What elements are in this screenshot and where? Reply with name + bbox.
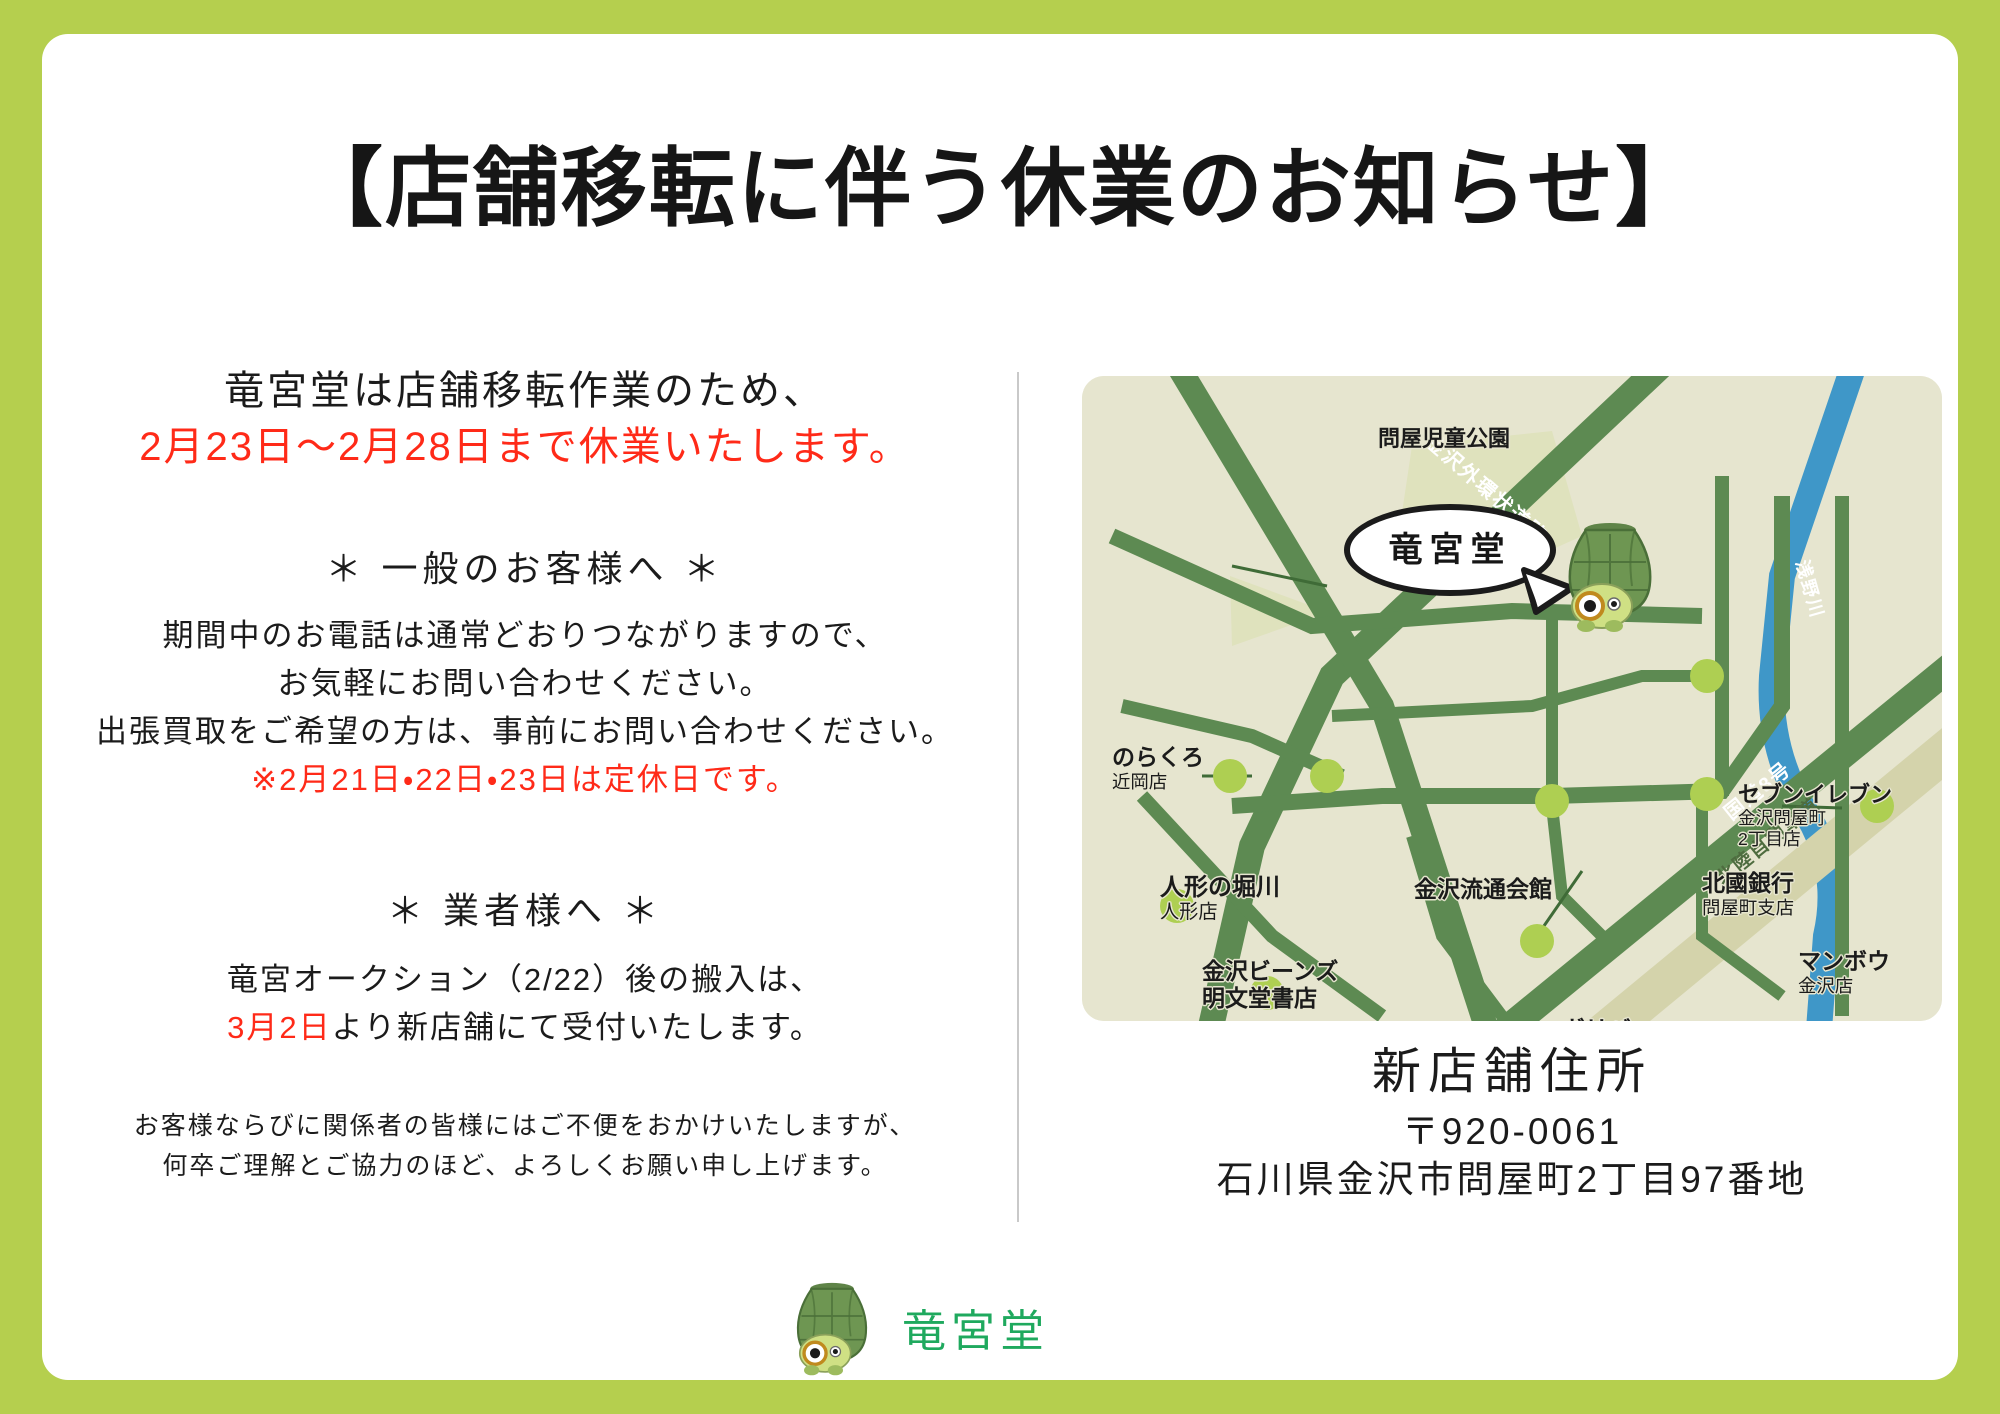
address-postal: 〒920-0061	[1082, 1108, 1942, 1156]
general-section-heading: ＊ 一般のお客様へ ＊	[60, 540, 990, 592]
address-title: 新店舗住所	[1082, 1044, 1942, 1100]
column-divider	[1017, 372, 1019, 1222]
map-label-manbou: マンボウ金沢店	[1798, 948, 1890, 997]
map-label-hokkoku-bank: 北國銀行問屋町支店	[1702, 870, 1794, 919]
trade-section-heading: ＊ 業者様へ ＊	[60, 882, 990, 934]
map-label-seven-eleven-sub2: 2丁目店	[1738, 829, 1892, 850]
turtle-jar-logo-icon	[782, 1277, 882, 1377]
footer-logo: 竜宮堂	[782, 1272, 1202, 1382]
general-line-3: 出張買取をご希望の方は、事前にお問い合わせください。	[60, 708, 990, 756]
trade-line-2-rest: より新店舗にて受付いたします。	[332, 1010, 823, 1045]
map-label-ningyo-horikawa: 人形の堀川人形店	[1160, 874, 1280, 925]
map-label-kanazawa-beans: 金沢ビーンズ明文堂書店	[1202, 958, 1338, 1012]
poster-card: 【店舗移転に伴う休業のお知らせ】 竜宮堂は店舗移転作業のため、 2月23日〜2月…	[42, 34, 1958, 1380]
general-line-1: 期間中のお電話は通常どおりつながりますので、	[60, 612, 990, 660]
page-title: 【店舗移転に伴う休業のお知らせ】	[42, 146, 1958, 232]
closing-line-1: お客様ならびに関係者の皆様にはご不便をおかけいたしますが、	[60, 1106, 990, 1146]
map-marker-ningyo	[1310, 759, 1344, 793]
new-store-address: 新店舗住所 〒920-0061 石川県金沢市問屋町2丁目97番地	[1082, 1044, 1942, 1205]
poster-background: 【店舗移転に伴う休業のお知らせ】 竜宮堂は店舗移転作業のため、 2月23日〜2月…	[0, 0, 2000, 1414]
map-label-seven-eleven: セブンイレブン金沢問屋町2丁目店	[1738, 782, 1892, 849]
trade-line-2: 3月2日より新店舗にて受付いたします。	[60, 1004, 990, 1052]
general-line-4-closed-days: ※2月21日・22日・23日は定休日です。	[60, 756, 990, 804]
lead-line-1: 竜宮堂は店舗移転作業のため、	[60, 364, 990, 418]
map-marker-bank	[1690, 659, 1724, 693]
map-marker-ryuutsuu	[1535, 784, 1569, 818]
address-street: 石川県金沢市問屋町2丁目97番地	[1082, 1156, 1942, 1204]
map-label-gulliver: ガリバー金沢店	[1562, 1016, 1654, 1021]
lead-line-2: 2月23日〜2月28日まで休業いたします。	[60, 420, 990, 474]
closing-line-2: 何卒ご理解とご協力のほど、よろしくお願い申し上げます。	[60, 1146, 990, 1186]
map-marker-seven	[1690, 777, 1724, 811]
map-marker-gulliver	[1520, 924, 1554, 958]
map-canvas: 金沢外環状道路 国道8号 北陸自動車道 浅野川	[1082, 376, 1942, 1021]
location-map: 金沢外環状道路 国道8号 北陸自動車道 浅野川	[1082, 376, 1942, 1021]
trade-restart-date: 3月2日	[227, 1010, 331, 1045]
map-label-hokkoku-bank-sub: 問屋町支店	[1702, 897, 1794, 919]
map-label-norakuro: のらくろ近岡店	[1112, 744, 1204, 793]
map-label-manbou-sub: 金沢店	[1798, 975, 1890, 997]
map-label-norakuro-sub: 近岡店	[1112, 771, 1204, 793]
map-label-kanazawa-beans-sub: 明文堂書店	[1202, 985, 1338, 1012]
map-label-seven-eleven-sub1: 金沢問屋町	[1738, 808, 1892, 829]
notice-text-column: 竜宮堂は店舗移転作業のため、 2月23日〜2月28日まで休業いたします。 ＊ 一…	[60, 364, 990, 1186]
general-line-2: お気軽にお問い合わせください。	[60, 660, 990, 708]
map-label-ningyo-horikawa-sub: 人形店	[1160, 902, 1280, 925]
map-marker-norakuro	[1213, 759, 1247, 793]
map-label-toiya-park: 問屋児童公園	[1378, 426, 1510, 452]
footer-brand-name: 竜宮堂	[902, 1295, 1049, 1359]
map-label-ryutsu-kaikan: 金沢流通会館	[1414, 876, 1552, 903]
trade-line-1: 竜宮オークション（2/22）後の搬入は、	[60, 956, 990, 1004]
turtle-jar-mascot-icon	[1552, 516, 1668, 634]
